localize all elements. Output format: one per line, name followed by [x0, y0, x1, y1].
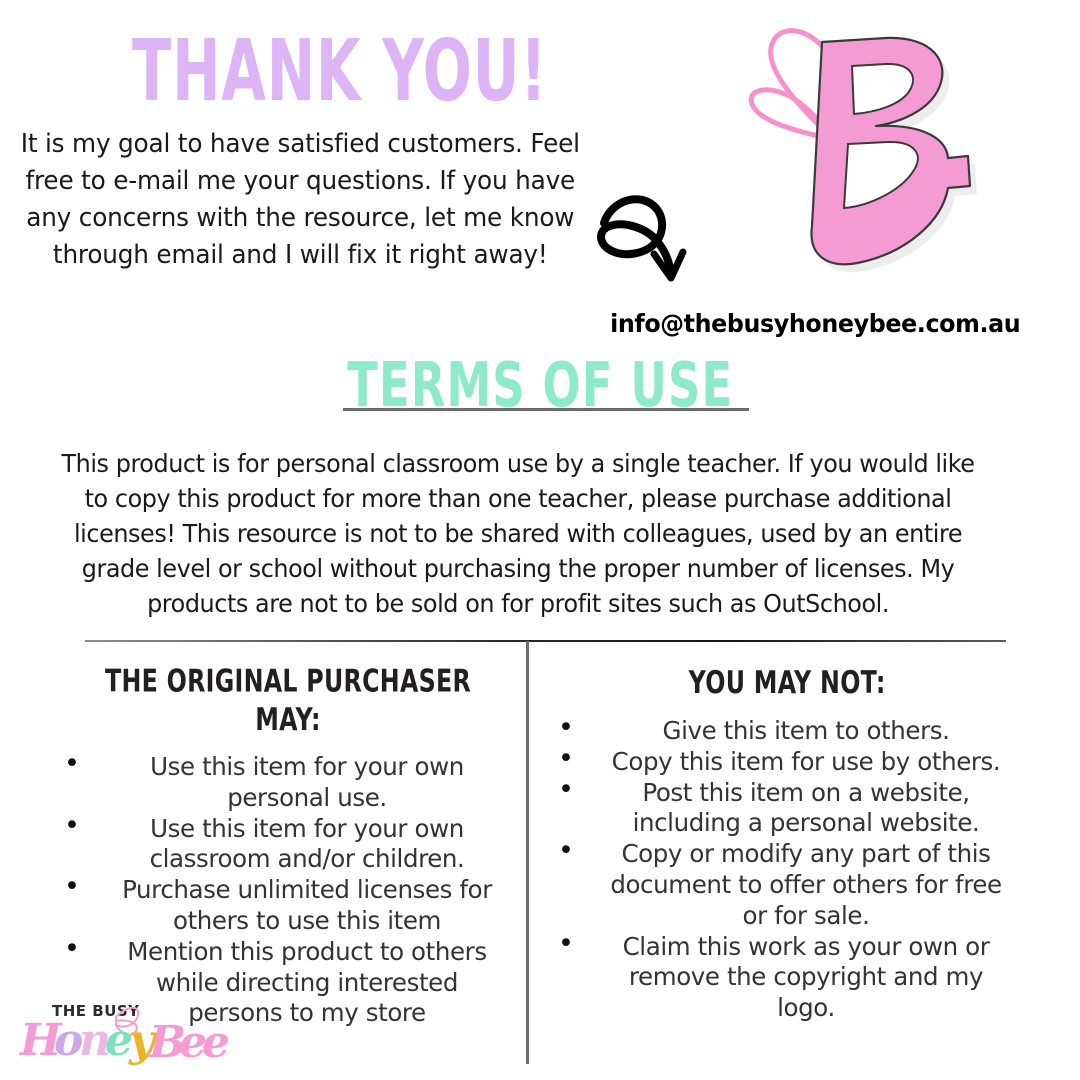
- list-item: Use this item for your own classroom and…: [106, 814, 518, 876]
- the-busy-honeybee-logo: THE BUSY H o n e y B e e: [16, 995, 232, 1070]
- column-heading-may-text: THE ORIGINAL PURCHASER MAY:: [99, 661, 476, 739]
- column-you-may-not: YOU MAY NOT: Give this item to others. C…: [552, 664, 1022, 1024]
- list-item: Post this item on a website, including a…: [600, 778, 1022, 840]
- bee-b-logo-icon: [672, 8, 998, 298]
- list-you-may-not: Give this item to others. Copy this item…: [552, 716, 1022, 1024]
- list-item: Copy or modify any part of this document…: [600, 839, 1022, 931]
- vertical-divider: [526, 641, 529, 1064]
- column-heading-may: THE ORIGINAL PURCHASER MAY:: [58, 664, 518, 736]
- horizontal-divider: [85, 640, 1006, 642]
- svg-text:e: e: [202, 1017, 230, 1068]
- contact-email[interactable]: info@thebusyhoneybee.com.au: [610, 307, 1020, 341]
- column-heading-may-not-text: YOU MAY NOT:: [689, 663, 886, 702]
- intro-paragraph: It is my goal to have satisfied customer…: [18, 126, 583, 274]
- thank-you-terms-page: THANK YOU! It is my goal to have satisfi…: [0, 0, 1080, 1080]
- column-purchaser-may: THE ORIGINAL PURCHASER MAY: Use this ite…: [58, 664, 518, 1029]
- list-item: Copy this item for use by others.: [600, 747, 1022, 778]
- list-item: Purchase unlimited licenses for others t…: [106, 875, 518, 937]
- terms-heading-underline: [343, 408, 749, 411]
- list-item: Claim this work as your own or remove th…: [600, 932, 1022, 1024]
- list-item: Give this item to others.: [600, 716, 1022, 747]
- list-purchaser-may: Use this item for your own personal use.…: [58, 752, 518, 1029]
- list-item: Use this item for your own personal use.: [106, 752, 518, 814]
- thank-you-heading: THANK YOU!: [132, 24, 558, 118]
- column-heading-may-not: YOU MAY NOT:: [552, 664, 1022, 700]
- terms-body-paragraph: This product is for personal classroom u…: [52, 446, 984, 621]
